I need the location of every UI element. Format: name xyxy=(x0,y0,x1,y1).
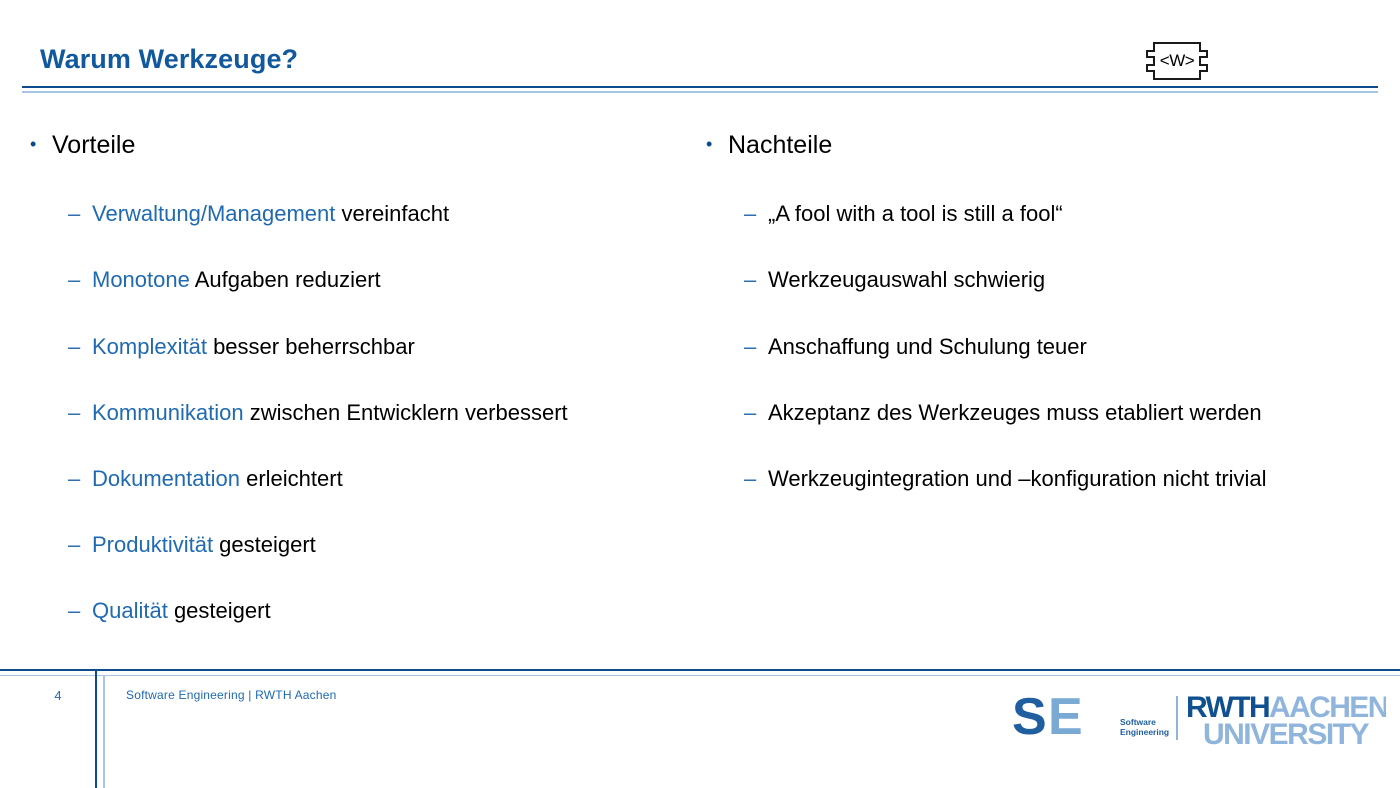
dash-icon: – xyxy=(744,268,768,292)
list-item-text: Dokumentation erleichtert xyxy=(92,467,343,491)
dash-icon: – xyxy=(68,599,92,623)
list-item-keyword: Produktivität xyxy=(92,532,213,557)
list-item-text: Kommunikation zwischen Entwicklern verbe… xyxy=(92,401,568,425)
list-item-rest: Aufgaben reduziert xyxy=(190,267,381,292)
list-heading-label: Vorteile xyxy=(52,132,135,158)
list-item-text: Anschaffung und Schulung teuer xyxy=(768,335,1087,359)
list-item: – Dokumentation erleichtert xyxy=(30,467,690,491)
page-title: Warum Werkzeuge? xyxy=(40,44,298,75)
list-item-text: Produktivität gesteigert xyxy=(92,533,316,557)
footer-text: Software Engineering | RWTH Aachen xyxy=(126,688,336,702)
se-logo-wordmark: Software Engineering xyxy=(1120,718,1169,738)
component-icon: <W> xyxy=(1146,42,1208,80)
list-item-keyword: Monotone xyxy=(92,267,190,292)
list-item-keyword: Komplexität xyxy=(92,334,207,359)
footer-divider-dark xyxy=(0,669,1400,671)
rwth-logo-university: UNIVERSITY xyxy=(1186,721,1368,750)
footer-divider-light xyxy=(0,675,1400,676)
list-item-text: Komplexität besser beherrschbar xyxy=(92,335,415,359)
dash-icon: – xyxy=(744,467,768,491)
footer-vertical-divider-light xyxy=(103,675,105,788)
footer-vertical-divider-dark xyxy=(95,669,97,788)
dash-icon: – xyxy=(68,202,92,226)
list-item: – Monotone Aufgaben reduziert xyxy=(30,268,690,292)
se-logo: S E Software Engineering xyxy=(1012,692,1172,752)
dash-icon: – xyxy=(68,401,92,425)
slide: Warum Werkzeuge? <W> • Vorteile – Verwal… xyxy=(0,0,1400,788)
dash-icon: – xyxy=(744,401,768,425)
list-item-keyword: Qualität xyxy=(92,598,168,623)
list-item-keyword: Verwaltung/Management xyxy=(92,201,335,226)
list-item: – Verwaltung/Management vereinfacht xyxy=(30,202,690,226)
list-item: – Akzeptanz des Werkzeuges muss etablier… xyxy=(706,401,1386,425)
list-item: – Werkzeugintegration und –konfiguration… xyxy=(706,467,1386,491)
list-heading-nachteile: • Nachteile xyxy=(706,132,1386,158)
dash-icon: – xyxy=(68,533,92,557)
list-item: – Produktivität gesteigert xyxy=(30,533,690,557)
bullet-icon: • xyxy=(706,132,728,156)
list-item-rest: erleichtert xyxy=(240,466,343,491)
column-nachteile: • Nachteile – „A fool with a tool is sti… xyxy=(706,132,1386,533)
list-item-rest: gesteigert xyxy=(168,598,271,623)
list-item-rest: besser beherrschbar xyxy=(207,334,415,359)
se-logo-mark: S E xyxy=(1012,692,1120,744)
list-item-rest: vereinfacht xyxy=(335,201,449,226)
list-item-text: Qualität gesteigert xyxy=(92,599,271,623)
list-heading-vorteile: • Vorteile xyxy=(30,132,690,158)
dash-icon: – xyxy=(744,202,768,226)
logo-separator xyxy=(1176,696,1178,740)
header-divider-dark xyxy=(22,86,1378,88)
list-item-text: Werkzeugintegration und –konfiguration n… xyxy=(768,467,1267,491)
list-item: – Anschaffung und Schulung teuer xyxy=(706,335,1386,359)
dash-icon: – xyxy=(68,467,92,491)
list-item-text: Werkzeugauswahl schwierig xyxy=(768,268,1045,292)
list-item-text: Akzeptanz des Werkzeuges muss etabliert … xyxy=(768,401,1262,425)
component-icon-label: <W> xyxy=(1146,42,1208,80)
page-number: 4 xyxy=(30,688,86,703)
list-item-keyword: Dokumentation xyxy=(92,466,240,491)
list-item: – Kommunikation zwischen Entwicklern ver… xyxy=(30,401,690,425)
list-item: – Werkzeugauswahl schwierig xyxy=(706,268,1386,292)
dash-icon: – xyxy=(68,268,92,292)
column-vorteile: • Vorteile – Verwaltung/Management verei… xyxy=(30,132,690,666)
rwth-logo: RWTHAACHEN UNIVERSITY xyxy=(1186,694,1386,750)
list-item-rest: gesteigert xyxy=(213,532,316,557)
se-logo-word-engineering: Engineering xyxy=(1120,728,1169,738)
list-item-keyword: Kommunikation xyxy=(92,400,244,425)
list-item-rest: zwischen Entwicklern verbessert xyxy=(244,400,568,425)
list-heading-label: Nachteile xyxy=(728,132,832,158)
se-logo-letter-s: S xyxy=(1012,692,1047,744)
dash-icon: – xyxy=(68,335,92,359)
list-item: – „A fool with a tool is still a fool“ xyxy=(706,202,1386,226)
list-item: – Qualität gesteigert xyxy=(30,599,690,623)
list-item-text: Monotone Aufgaben reduziert xyxy=(92,268,381,292)
list-item: – Komplexität besser beherrschbar xyxy=(30,335,690,359)
list-item-text: „A fool with a tool is still a fool“ xyxy=(768,202,1063,226)
se-logo-letter-e: E xyxy=(1048,692,1083,744)
list-item-text: Verwaltung/Management vereinfacht xyxy=(92,202,449,226)
dash-icon: – xyxy=(744,335,768,359)
bullet-icon: • xyxy=(30,132,52,156)
header-divider-light xyxy=(22,91,1378,93)
